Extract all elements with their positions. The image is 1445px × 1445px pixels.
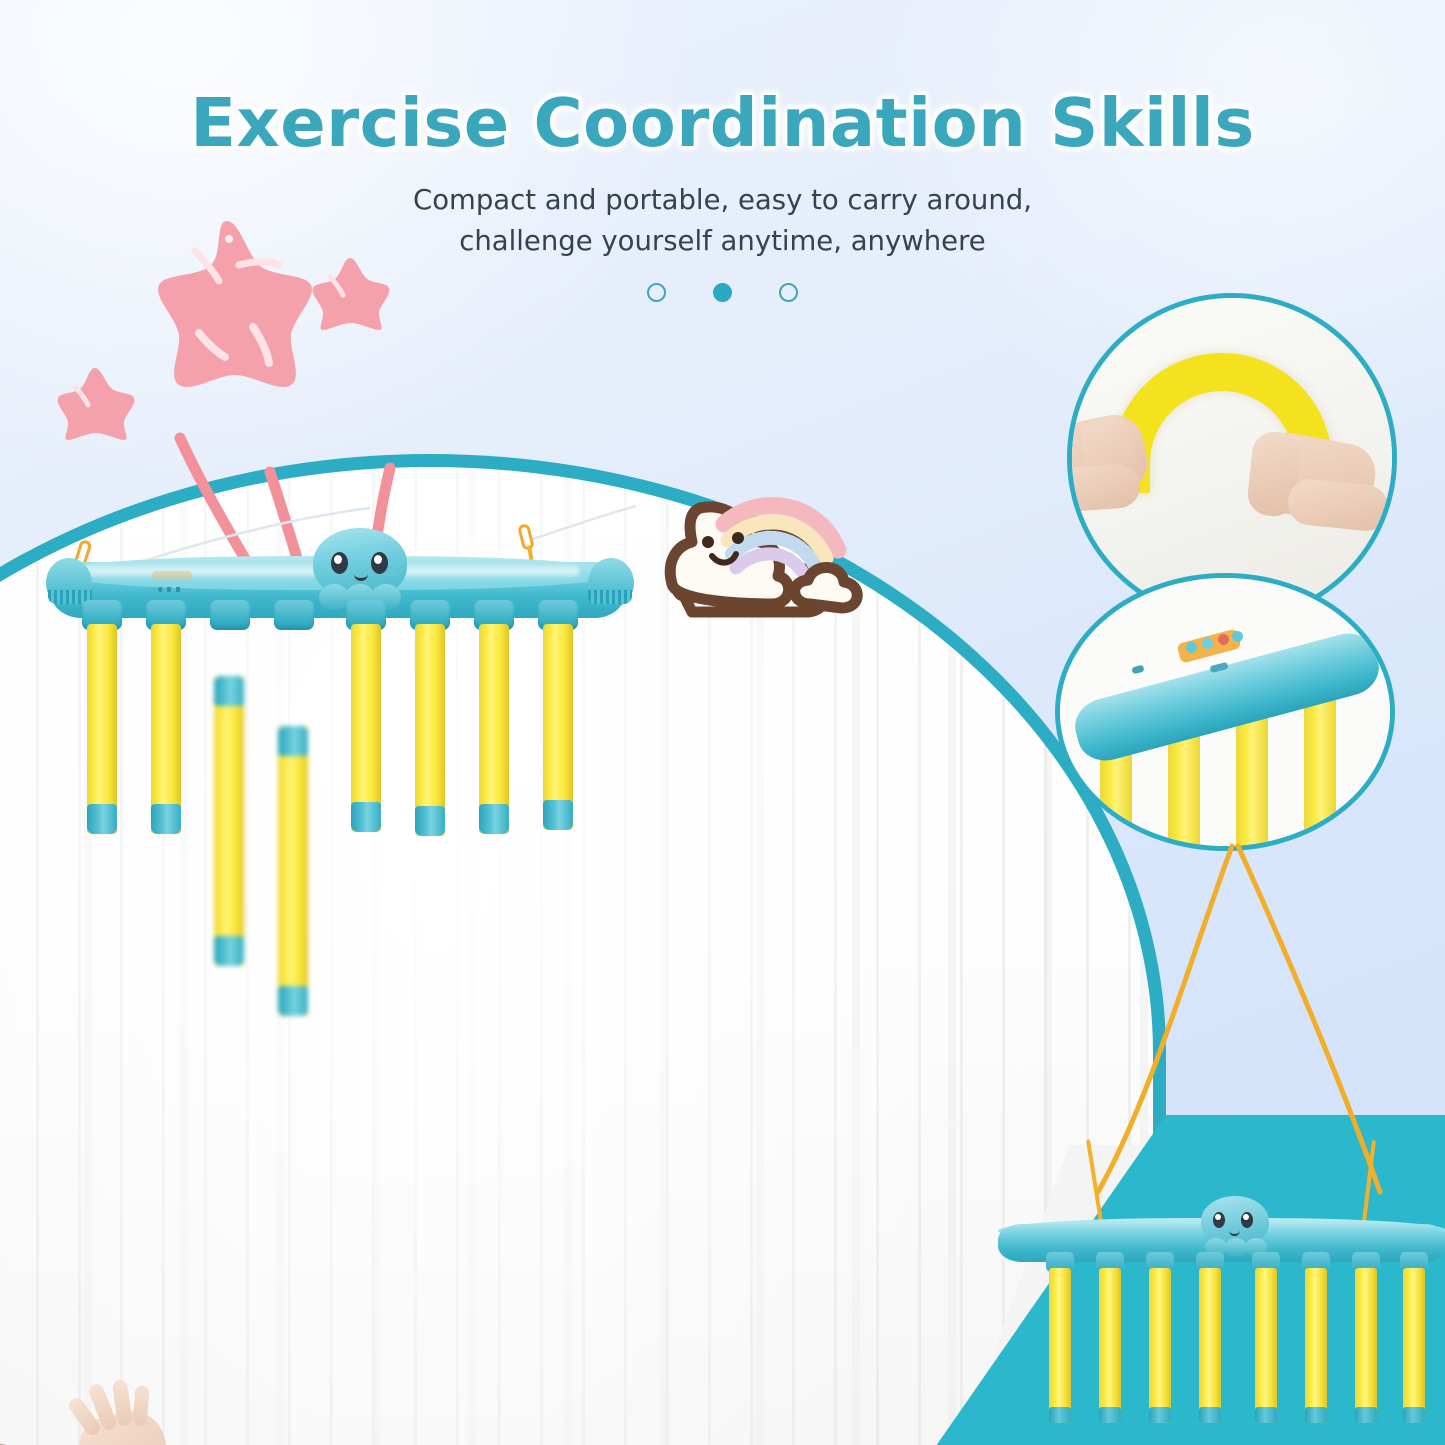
product-stick-3 bbox=[1149, 1268, 1171, 1423]
product-marketing-image: Exercise Coordination Skills Compact and… bbox=[0, 0, 1445, 1445]
carousel-dot-2-active[interactable] bbox=[713, 283, 732, 302]
carousel-dot-3[interactable] bbox=[779, 283, 798, 302]
star-small-right-icon bbox=[310, 255, 390, 331]
product-stick-2 bbox=[1099, 1268, 1121, 1423]
product-photo-hanging bbox=[990, 1190, 1445, 1445]
product-stick-4 bbox=[1199, 1268, 1221, 1423]
octopus-eye-left bbox=[331, 552, 348, 574]
octopus-blush-left bbox=[321, 572, 333, 577]
connector-cords bbox=[1060, 840, 1445, 1210]
page-title: Exercise Coordination Skills bbox=[0, 84, 1445, 162]
product-stick-6 bbox=[1305, 1268, 1327, 1423]
carousel-dot-1[interactable] bbox=[647, 283, 666, 302]
inset-control-panel bbox=[1055, 573, 1395, 851]
stick-tip bbox=[543, 800, 573, 830]
product-stick-5 bbox=[1255, 1268, 1277, 1423]
stick-tip bbox=[87, 804, 117, 834]
hanging-stick-3 bbox=[351, 624, 381, 832]
control-panel-label bbox=[152, 571, 192, 579]
stick-tip bbox=[151, 804, 181, 834]
stick-tip bbox=[351, 802, 381, 832]
hanging-stick-2 bbox=[151, 624, 181, 834]
hanging-stick-6 bbox=[543, 624, 573, 830]
stick-tip bbox=[479, 804, 509, 834]
octopus-mascot bbox=[1195, 1196, 1275, 1258]
product-stick-8 bbox=[1403, 1268, 1425, 1423]
star-large-icon bbox=[135, 215, 320, 390]
product-stick-7 bbox=[1355, 1268, 1377, 1423]
rainbow-cloud-decoration bbox=[632, 484, 872, 634]
speaker-holes bbox=[158, 587, 184, 592]
octopus-blush-right bbox=[387, 572, 399, 577]
stick-tip bbox=[415, 806, 445, 836]
hanging-stick-4 bbox=[415, 624, 445, 836]
stick-tip-bottom bbox=[278, 986, 308, 1016]
bar-grip-right bbox=[588, 590, 632, 604]
main-product-illustration bbox=[40, 500, 640, 970]
socket-4-empty bbox=[274, 600, 314, 630]
octopus-leg-2 bbox=[1225, 1238, 1247, 1256]
octopus-eye-left bbox=[1213, 1212, 1225, 1228]
octopus-eye-right bbox=[371, 552, 388, 574]
stick-tip-top bbox=[214, 676, 244, 706]
falling-stick-2 bbox=[278, 726, 308, 1016]
falling-stick-1 bbox=[214, 676, 244, 966]
hanging-stick-5 bbox=[479, 624, 509, 834]
octopus-eye-right bbox=[1241, 1212, 1253, 1228]
hanging-stick-1 bbox=[87, 624, 117, 834]
product-stick-1 bbox=[1049, 1268, 1071, 1423]
socket-3-empty bbox=[210, 600, 250, 630]
stick-tip-top bbox=[278, 726, 308, 756]
stick-tip-bottom bbox=[214, 936, 244, 966]
